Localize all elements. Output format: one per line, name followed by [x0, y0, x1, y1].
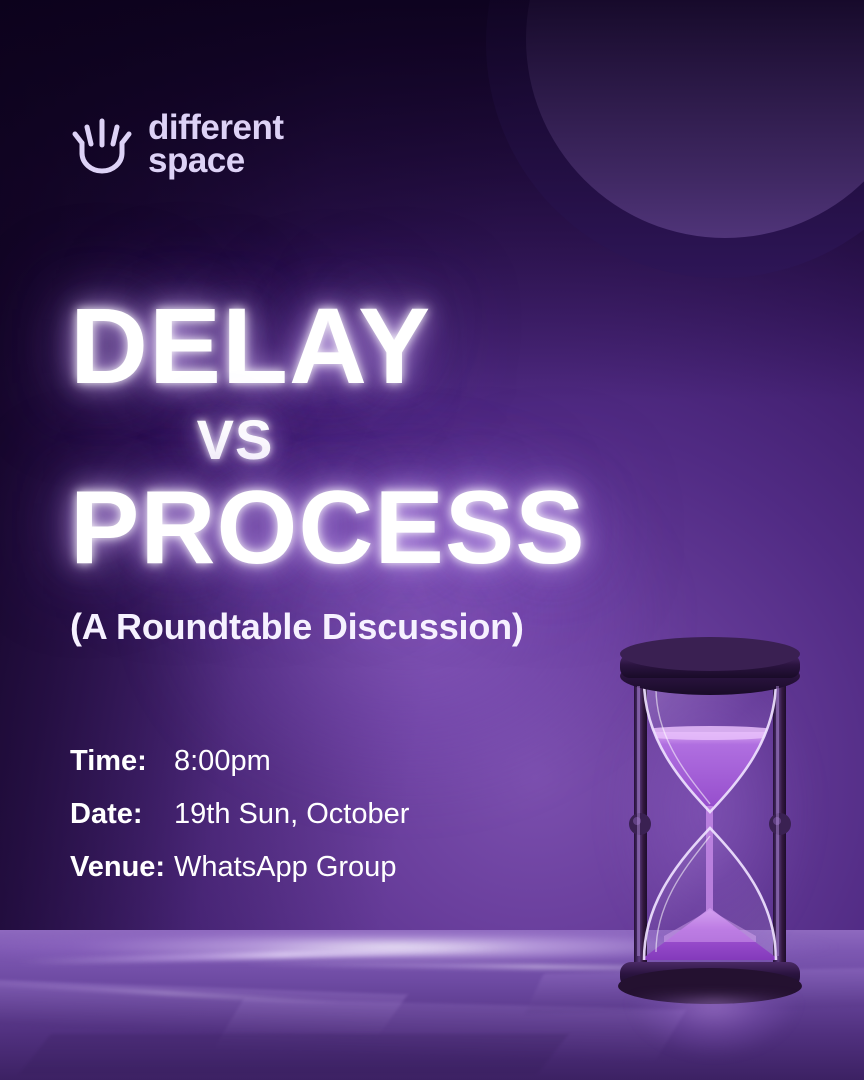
brand-name: different space — [148, 112, 284, 177]
detail-row-venue: Venue: WhatsApp Group — [70, 851, 409, 884]
brand-name-line1: different — [148, 112, 284, 145]
detail-value-time: 8:00pm — [174, 745, 271, 778]
detail-value-date: 19th Sun, October — [174, 798, 409, 831]
headline-connector-vs: VS — [70, 412, 400, 468]
open-hand-icon — [70, 113, 134, 177]
detail-label-venue: Venue: — [70, 851, 174, 884]
event-details: Time: 8:00pm Date: 19th Sun, October Ven… — [70, 745, 409, 904]
headline-word-delay: DELAY — [70, 292, 630, 400]
detail-value-venue: WhatsApp Group — [174, 851, 396, 884]
detail-label-date: Date: — [70, 798, 174, 831]
detail-label-time: Time: — [70, 745, 174, 778]
headline-block: DELAY VS PROCESS (A Roundtable Discussio… — [70, 292, 630, 648]
brand-name-line2: space — [148, 145, 284, 178]
floor-shard — [19, 1034, 569, 1074]
hourglass-icon — [604, 636, 816, 1004]
brand-logo: different space — [70, 112, 284, 177]
event-poster: different space DELAY VS PROCESS (A Roun… — [0, 0, 864, 1080]
detail-row-date: Date: 19th Sun, October — [70, 798, 409, 831]
detail-row-time: Time: 8:00pm — [70, 745, 409, 778]
headline-word-process: PROCESS — [70, 476, 630, 580]
hourglass-reflection — [626, 998, 802, 1074]
headline-subtitle: (A Roundtable Discussion) — [70, 606, 630, 648]
